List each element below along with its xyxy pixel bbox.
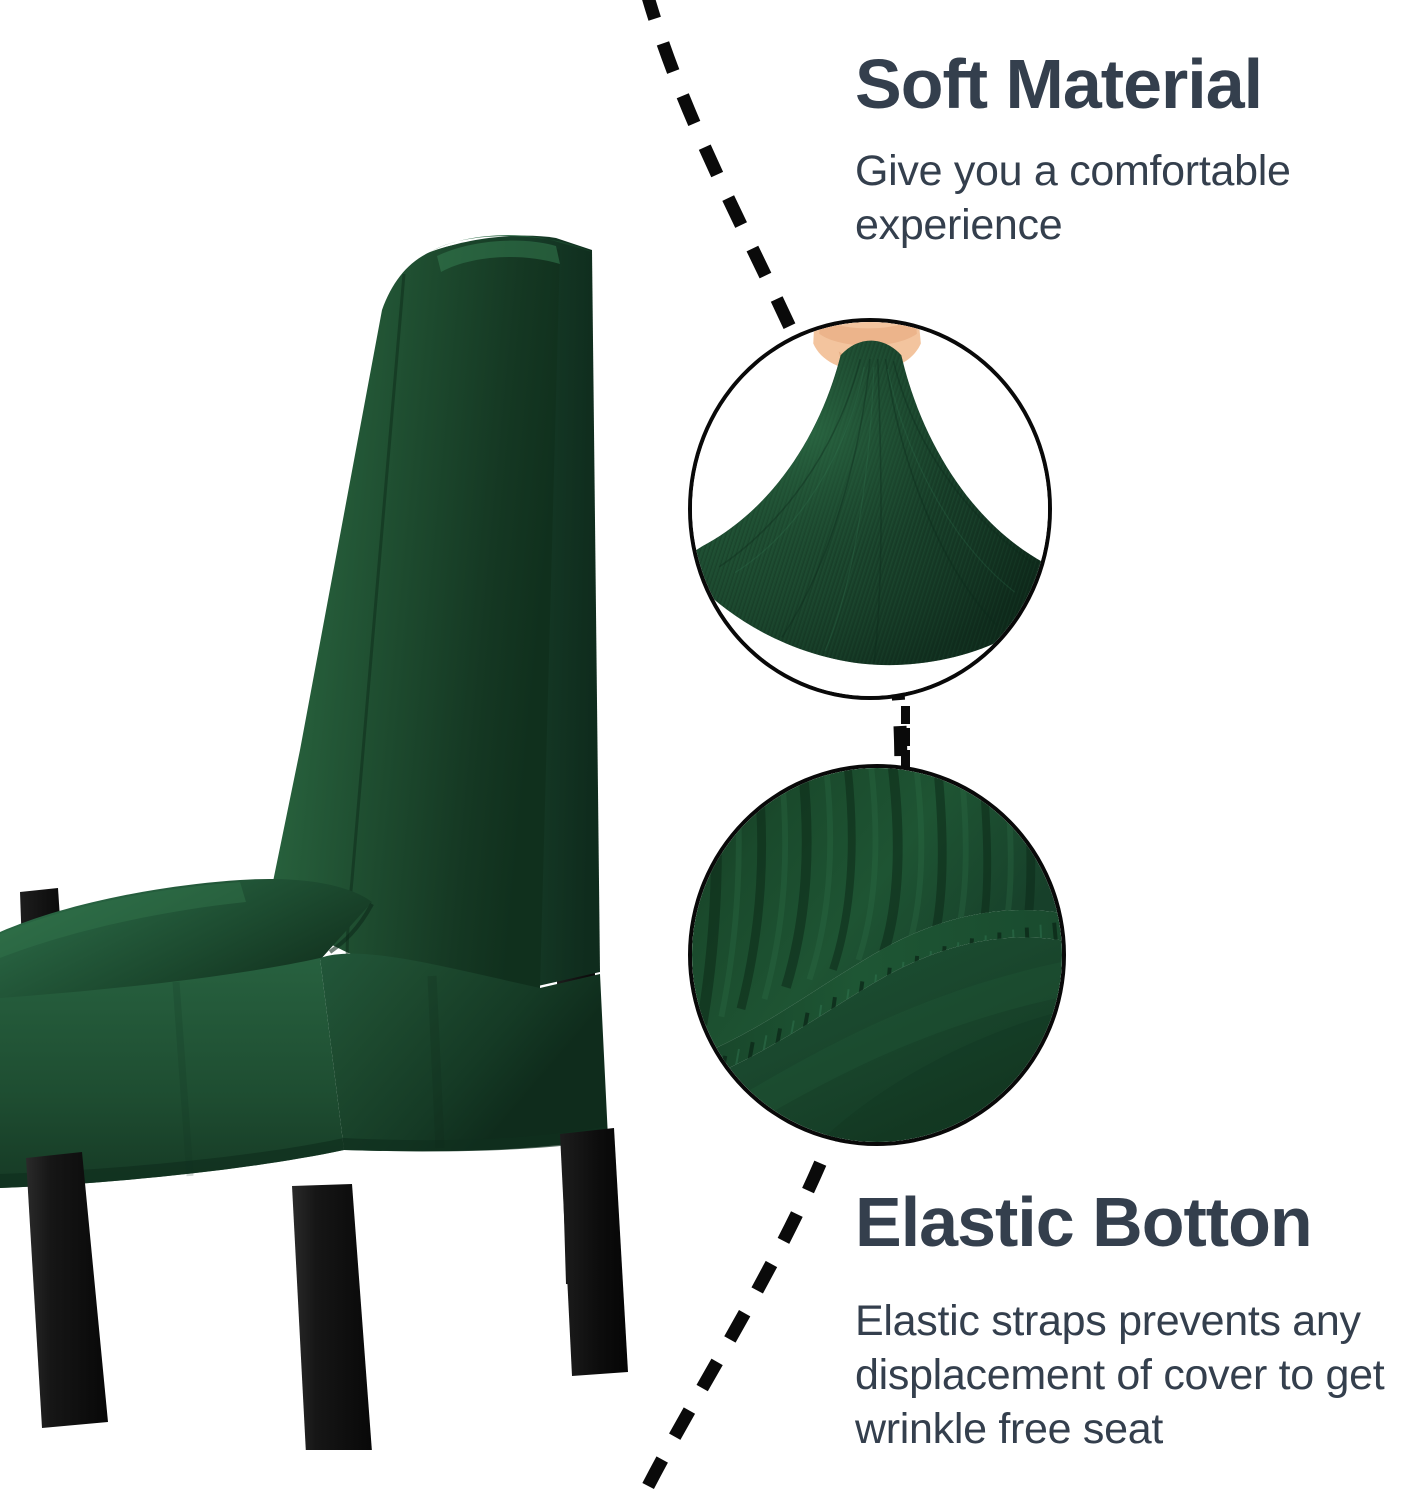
feature-body-soft-material: Give you a comfortable experience [855, 144, 1395, 252]
feature-body-elastic-bottom: Elastic straps prevents any displacement… [855, 1294, 1415, 1457]
stretched-fabric-detail-icon [688, 318, 1052, 700]
dashed-connector-line [901, 706, 910, 768]
chair-back-panel [268, 240, 560, 990]
feature-heading-soft-material: Soft Material [855, 48, 1395, 122]
elastic-hem-detail-icon [688, 764, 1066, 1146]
chair-skirt-back [320, 954, 608, 1152]
feature-block-soft-material: Soft Material Give you a comfortable exp… [855, 48, 1395, 252]
chair-with-slipcover-icon [0, 190, 680, 1450]
feature-block-elastic-bottom: Elastic Botton Elastic straps prevents a… [855, 1186, 1415, 1456]
product-feature-infographic: Soft Material Give you a comfortable exp… [0, 0, 1428, 1500]
feature-heading-elastic-bottom: Elastic Botton [855, 1186, 1415, 1260]
